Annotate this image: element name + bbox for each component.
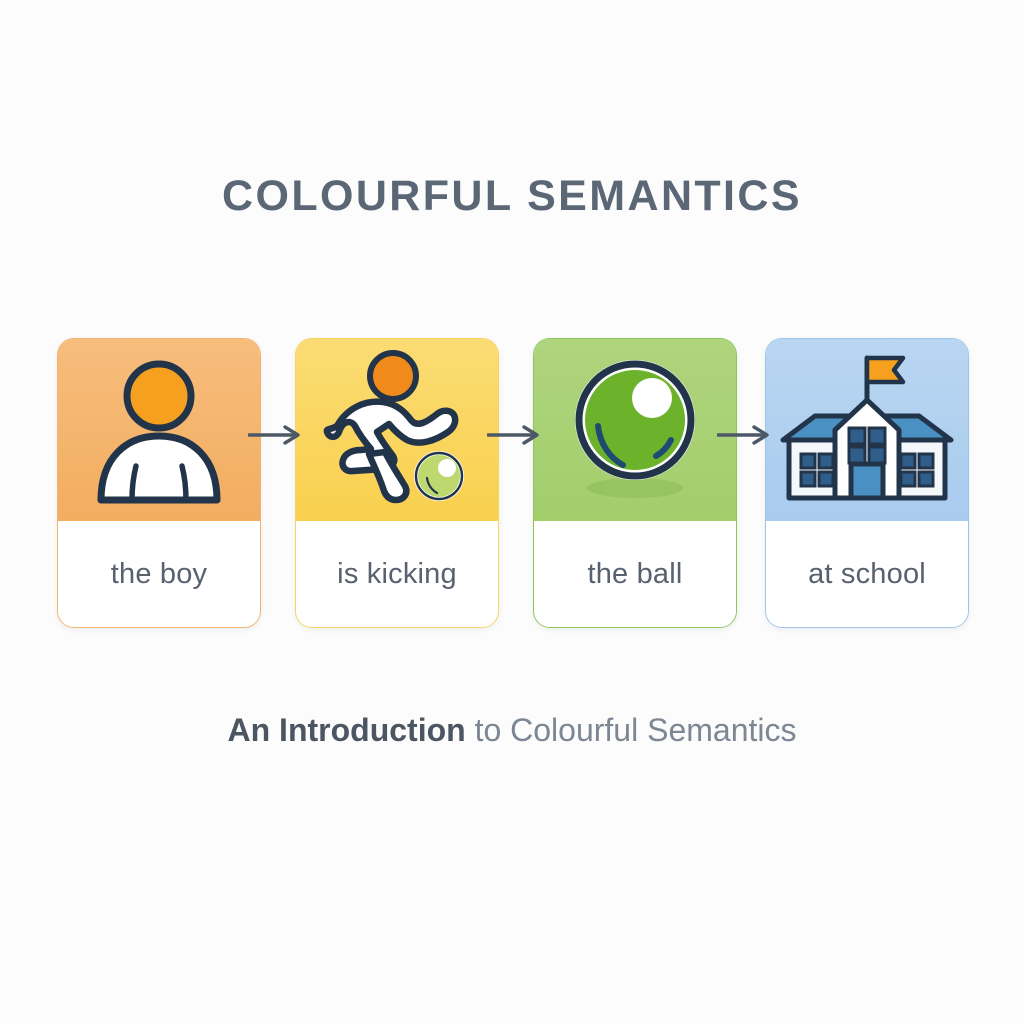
card-what-art [534,339,736,521]
card-where-label: at school [808,558,926,591]
card-who[interactable]: the boy [57,338,261,628]
slide-canvas: COLOURFUL SEMANTICS the boy [0,0,1024,1024]
page-subtitle: An Introduction to Colourful Semantics [0,712,1024,749]
ball-icon [560,350,710,510]
semantics-card-strip: the boy [57,338,967,630]
card-doing-art [296,339,498,521]
page-subtitle-light: to Colourful Semantics [466,712,797,748]
page-subtitle-strong: An Introduction [228,712,466,748]
person-icon [84,350,234,510]
card-who-labelbar: the boy [58,521,260,627]
page-title: COLOURFUL SEMANTICS [0,172,1024,221]
card-what[interactable]: the ball [533,338,737,628]
arrow-doing-to-what [487,424,543,446]
arrow-who-to-doing [248,424,304,446]
card-where[interactable]: at school [765,338,969,628]
card-doing-labelbar: is kicking [296,521,498,627]
card-where-art [766,339,968,521]
card-who-label: the boy [111,558,208,591]
running-kicking-person-icon [317,348,477,513]
school-building-icon [779,346,955,514]
card-who-art [58,339,260,521]
card-doing-label: is kicking [337,558,457,591]
card-doing[interactable]: is kicking [295,338,499,628]
arrow-what-to-where [717,424,773,446]
card-what-label: the ball [587,558,682,591]
card-where-labelbar: at school [766,521,968,627]
card-what-labelbar: the ball [534,521,736,627]
